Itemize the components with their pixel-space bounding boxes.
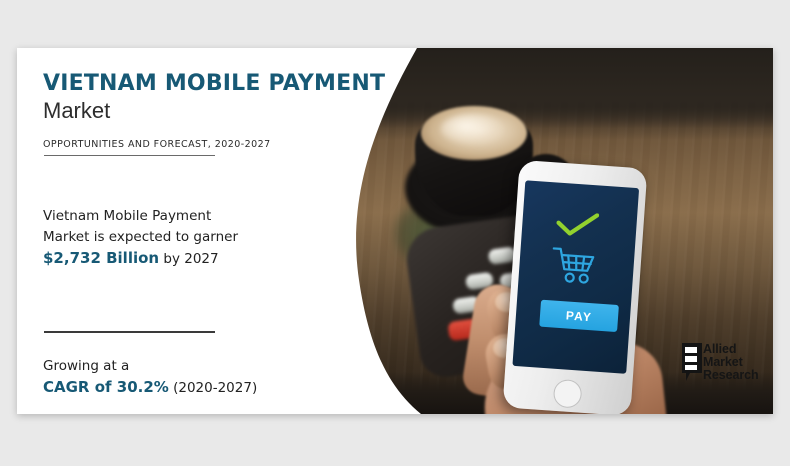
subtitle-rule [44, 155, 215, 156]
cagr-line-1: Growing at a [43, 356, 257, 377]
cagr-tail: (2020-2027) [169, 380, 257, 396]
logo-wordmark: Allied Market Research [703, 343, 759, 381]
page-title-light: Market [43, 100, 110, 122]
market-value-stat: Vietnam Mobile Payment Market is expecte… [43, 206, 238, 270]
smartphone-screen: PAY [512, 180, 639, 373]
market-value-tail: by 2027 [159, 251, 219, 267]
logo-line-3: Research [703, 369, 759, 382]
section-divider-rule [44, 331, 215, 333]
cagr-line-2: CAGR of 30.2% (2020-2027) [43, 377, 257, 399]
smartphone: PAY [503, 160, 648, 414]
cagr-highlight: CAGR of 30.2% [43, 378, 169, 396]
market-value-line-1: Vietnam Mobile Payment [43, 206, 238, 227]
market-value-highlight: $2,732 Billion [43, 249, 159, 267]
subtitle: OPPORTUNITIES AND FORECAST, 2020-2027 [43, 139, 271, 150]
shopping-cart-icon [550, 244, 601, 285]
allied-market-research-logo: Allied Market Research [681, 342, 773, 392]
smartphone-home-button [553, 379, 583, 409]
infographic-card: PAY VIETNAM MOBILE PAYMENT Market OPPORT… [17, 48, 773, 414]
panel-content: VIETNAM MOBILE PAYMENT Market OPPORTUNIT… [17, 48, 417, 414]
check-mark-icon [556, 211, 600, 238]
logo-line-1: Allied [703, 343, 759, 356]
logo-line-2: Market [703, 356, 759, 369]
pay-button[interactable]: PAY [539, 300, 619, 332]
page-title-strong: VIETNAM MOBILE PAYMENT [43, 73, 385, 95]
speech-bubble-bars-icon [681, 342, 703, 382]
cagr-stat: Growing at a CAGR of 30.2% (2020-2027) [43, 356, 257, 399]
market-value-line-3: $2,732 Billion by 2027 [43, 248, 238, 270]
market-value-line-2: Market is expected to garner [43, 227, 238, 248]
